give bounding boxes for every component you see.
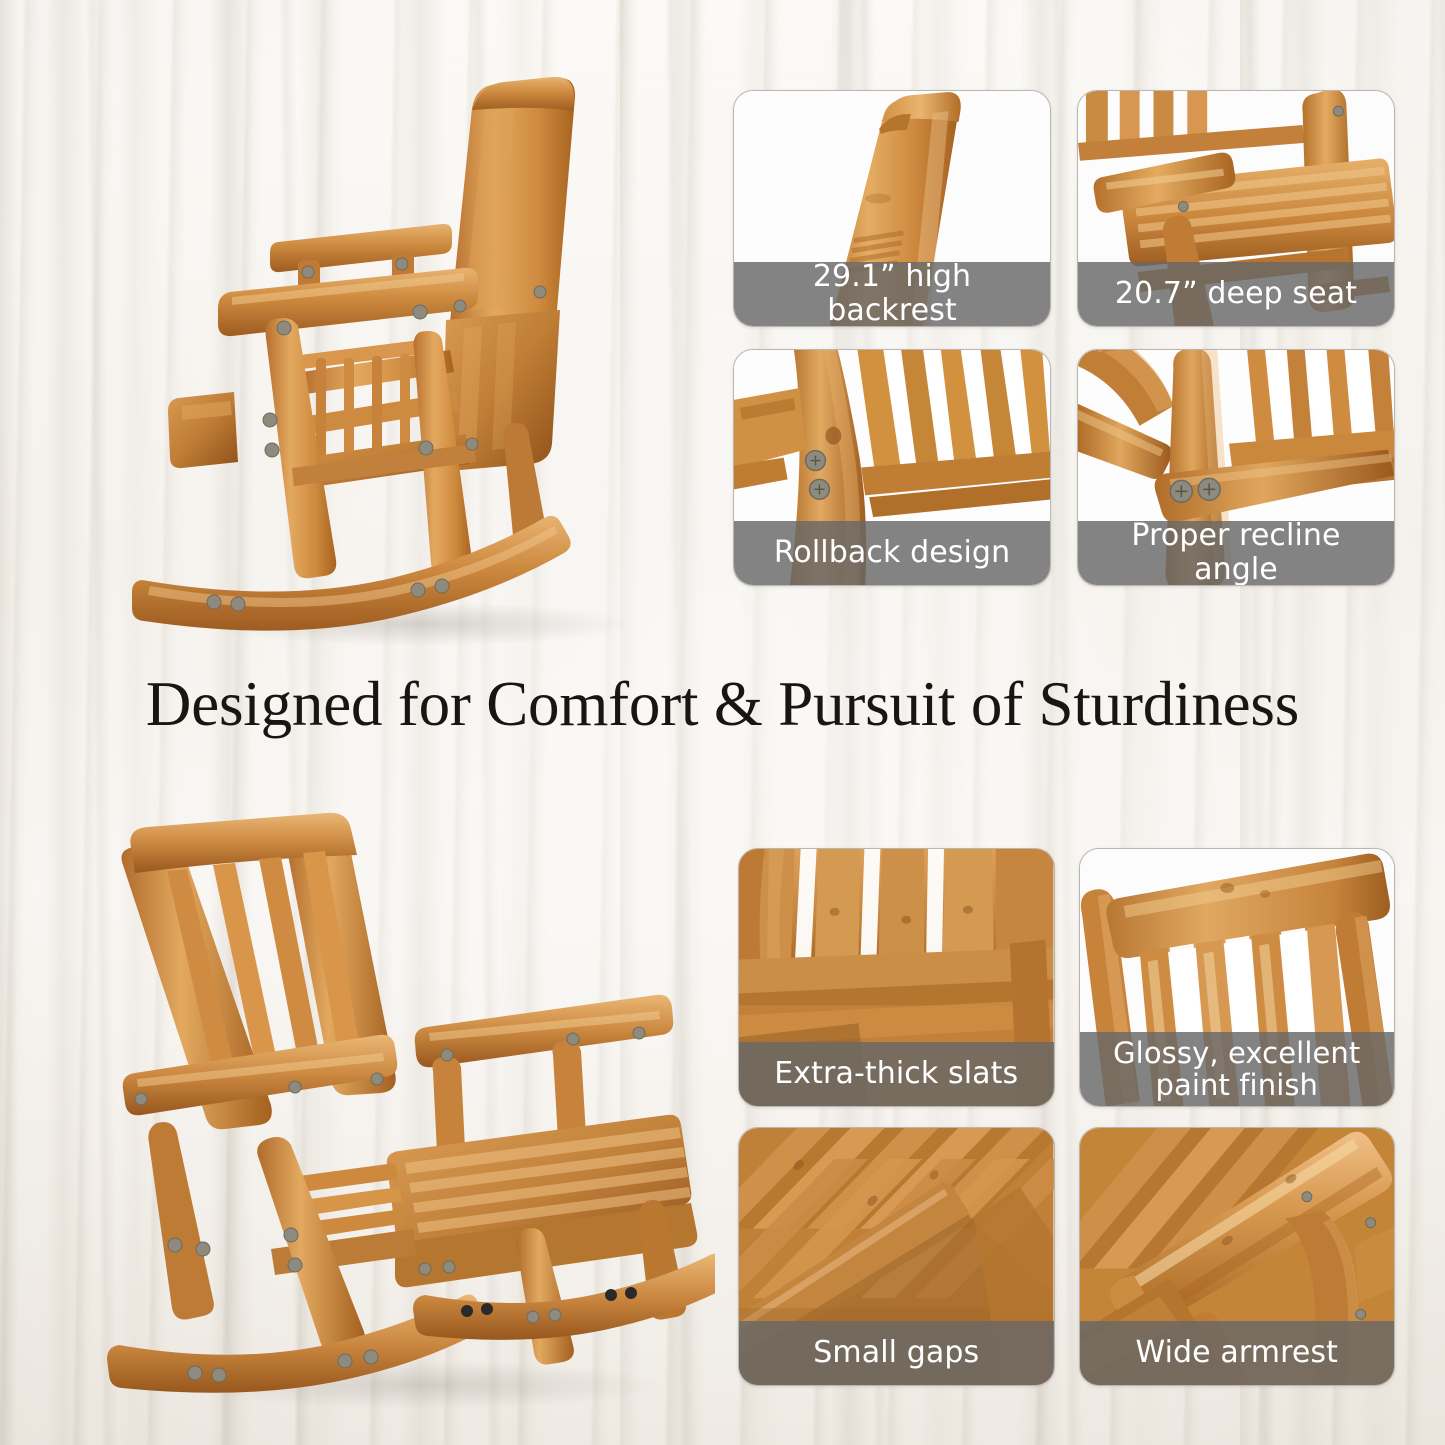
feature-card-small-gaps[interactable]: Small gaps (738, 1127, 1055, 1386)
feature-caption: Small gaps (739, 1321, 1054, 1385)
feature-card-recline-angle[interactable]: Proper recline angle (1077, 349, 1395, 586)
feature-caption: 20.7” deep seat (1078, 262, 1394, 326)
caption-line: paint finish (1113, 1069, 1360, 1101)
caption-line: 20.7” deep seat (1115, 277, 1357, 311)
hero-rocking-chair-side (120, 20, 720, 670)
caption-line: Extra-thick slats (774, 1057, 1018, 1091)
feature-card-rollback-design[interactable]: Rollback design (733, 349, 1051, 586)
feature-card-wide-armrest[interactable]: Wide armrest (1079, 1127, 1396, 1386)
lower-feature-grid: Extra-thick slats (738, 848, 1395, 1386)
hero-rocking-chair-angled (95, 805, 715, 1425)
feature-card-high-backrest[interactable]: 29.1” high backrest (733, 90, 1051, 327)
feature-caption: Glossy, excellent paint finish (1080, 1032, 1395, 1106)
feature-card-extra-thick-slats[interactable]: Extra-thick slats (738, 848, 1055, 1107)
upper-feature-grid: 29.1” high backrest (733, 90, 1395, 586)
feature-caption: 29.1” high backrest (734, 262, 1050, 326)
caption-line: Small gaps (813, 1336, 979, 1370)
caption-line: Wide armrest (1135, 1336, 1338, 1370)
caption-line: Proper recline angle (1088, 519, 1384, 586)
feature-card-deep-seat[interactable]: 20.7” deep seat (1077, 90, 1395, 327)
caption-line: 29.1” high backrest (744, 260, 1040, 327)
caption-line: Glossy, excellent (1113, 1037, 1360, 1069)
page-title: Designed for Comfort & Pursuit of Sturdi… (0, 672, 1445, 736)
infographic-page: Designed for Comfort & Pursuit of Sturdi… (0, 0, 1445, 1445)
feature-caption: Rollback design (734, 521, 1050, 585)
feature-caption: Extra-thick slats (739, 1042, 1054, 1106)
feature-card-paint-finish[interactable]: Glossy, excellent paint finish (1079, 848, 1396, 1107)
feature-caption: Wide armrest (1080, 1321, 1395, 1385)
caption-line: Rollback design (774, 536, 1010, 570)
feature-caption: Proper recline angle (1078, 521, 1394, 585)
